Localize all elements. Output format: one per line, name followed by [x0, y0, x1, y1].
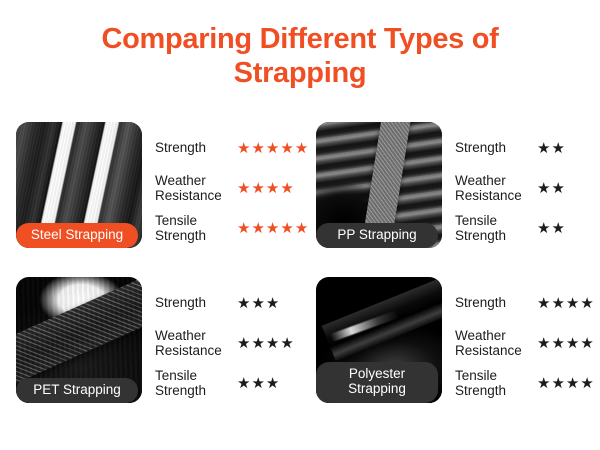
star-icon: ★ — [237, 141, 250, 156]
star-icon: ★ — [237, 221, 250, 236]
star-icon: ★ — [251, 141, 264, 156]
star-icon: ★ — [537, 141, 550, 156]
product-badge-polyester: Polyester Strapping — [316, 362, 438, 403]
star-icon: ★ — [580, 296, 593, 311]
attribute-row-strength: Strength★★★★★ — [155, 128, 308, 168]
star-icon: ★ — [266, 376, 279, 391]
star-icon: ★ — [280, 221, 293, 236]
rating-stars-weather-resistance: ★★ — [533, 181, 565, 196]
title-block: Comparing Different Types of Strapping — [0, 0, 600, 90]
attribute-row-strength: Strength★★★★ — [455, 283, 600, 323]
star-icon: ★ — [551, 376, 564, 391]
attribute-row-tensile-strength: Tensile Strength★★★★★ — [155, 208, 308, 248]
rating-stars-weather-resistance: ★★★★ — [533, 336, 594, 351]
attribute-list-polyester: Strength★★★★Weather Resistance★★★★Tensil… — [442, 277, 600, 403]
star-icon: ★ — [551, 296, 564, 311]
attribute-list-pp: Strength★★Weather Resistance★★Tensile St… — [442, 122, 600, 248]
attribute-row-strength: Strength★★ — [455, 128, 600, 168]
attribute-list-pet: Strength★★★Weather Resistance★★★★Tensile… — [142, 277, 300, 403]
attribute-label-weather-resistance: Weather Resistance — [155, 173, 233, 203]
star-icon: ★ — [566, 296, 579, 311]
attribute-label-weather-resistance: Weather Resistance — [155, 328, 233, 358]
attribute-row-tensile-strength: Tensile Strength★★★ — [155, 363, 300, 403]
page-title: Comparing Different Types of Strapping — [0, 22, 600, 90]
rating-stars-strength: ★★★★ — [533, 296, 594, 311]
star-icon: ★ — [266, 141, 279, 156]
rating-stars-strength: ★★ — [533, 141, 565, 156]
star-icon: ★ — [551, 221, 564, 236]
comparison-grid: Steel StrappingStrength★★★★★Weather Resi… — [0, 122, 600, 432]
attribute-label-strength: Strength — [455, 295, 533, 310]
attribute-row-weather-resistance: Weather Resistance★★ — [455, 168, 600, 208]
rating-stars-tensile-strength: ★★ — [533, 221, 565, 236]
star-icon: ★ — [266, 296, 279, 311]
star-icon: ★ — [266, 221, 279, 236]
star-icon: ★ — [280, 141, 293, 156]
rating-stars-strength: ★★★★★ — [233, 141, 308, 156]
star-icon: ★ — [266, 336, 279, 351]
product-thumbnail-pet: PET Strapping — [16, 277, 142, 403]
star-icon: ★ — [237, 336, 250, 351]
star-icon: ★ — [251, 181, 264, 196]
attribute-row-strength: Strength★★★ — [155, 283, 300, 323]
star-icon: ★ — [551, 141, 564, 156]
star-icon: ★ — [537, 181, 550, 196]
star-icon: ★ — [251, 221, 264, 236]
star-icon: ★ — [551, 181, 564, 196]
star-icon: ★ — [551, 336, 564, 351]
attribute-row-weather-resistance: Weather Resistance★★★★ — [455, 323, 600, 363]
star-icon: ★ — [566, 336, 579, 351]
star-icon: ★ — [537, 336, 550, 351]
attribute-label-tensile-strength: Tensile Strength — [155, 368, 233, 398]
star-icon: ★ — [237, 376, 250, 391]
attribute-label-tensile-strength: Tensile Strength — [155, 213, 233, 243]
star-icon: ★ — [251, 296, 264, 311]
rating-stars-weather-resistance: ★★★★ — [233, 181, 294, 196]
rating-stars-strength: ★★★ — [233, 296, 279, 311]
comparison-card-pp: PP StrappingStrength★★Weather Resistance… — [300, 122, 600, 277]
product-badge-pp: PP Strapping — [316, 223, 438, 248]
star-icon: ★ — [537, 296, 550, 311]
attribute-label-strength: Strength — [155, 295, 233, 310]
attribute-row-weather-resistance: Weather Resistance★★★★ — [155, 323, 300, 363]
comparison-card-polyester: Polyester StrappingStrength★★★★Weather R… — [300, 277, 600, 432]
star-icon: ★ — [280, 336, 293, 351]
rating-stars-tensile-strength: ★★★★ — [533, 376, 594, 391]
attribute-label-tensile-strength: Tensile Strength — [455, 368, 533, 398]
attribute-label-weather-resistance: Weather Resistance — [455, 328, 533, 358]
star-icon: ★ — [237, 181, 250, 196]
star-icon: ★ — [580, 336, 593, 351]
product-badge-steel: Steel Strapping — [16, 223, 138, 248]
attribute-list-steel: Strength★★★★★Weather Resistance★★★★Tensi… — [142, 122, 308, 248]
attribute-label-strength: Strength — [455, 140, 533, 155]
attribute-label-tensile-strength: Tensile Strength — [455, 213, 533, 243]
product-thumbnail-pp: PP Strapping — [316, 122, 442, 248]
product-thumbnail-steel: Steel Strapping — [16, 122, 142, 248]
comparison-card-pet: PET StrappingStrength★★★Weather Resistan… — [0, 277, 300, 432]
attribute-label-strength: Strength — [155, 140, 233, 155]
rating-stars-tensile-strength: ★★★★★ — [233, 221, 308, 236]
star-icon: ★ — [280, 181, 293, 196]
attribute-row-tensile-strength: Tensile Strength★★★★ — [455, 363, 600, 403]
comparison-card-steel: Steel StrappingStrength★★★★★Weather Resi… — [0, 122, 300, 277]
attribute-row-tensile-strength: Tensile Strength★★ — [455, 208, 600, 248]
product-thumbnail-polyester: Polyester Strapping — [316, 277, 442, 403]
star-icon: ★ — [251, 376, 264, 391]
star-icon: ★ — [251, 336, 264, 351]
rating-stars-weather-resistance: ★★★★ — [233, 336, 294, 351]
star-icon: ★ — [237, 296, 250, 311]
attribute-row-weather-resistance: Weather Resistance★★★★ — [155, 168, 308, 208]
star-icon: ★ — [537, 221, 550, 236]
product-badge-pet: PET Strapping — [16, 378, 138, 403]
star-icon: ★ — [580, 376, 593, 391]
rating-stars-tensile-strength: ★★★ — [233, 376, 279, 391]
star-icon: ★ — [537, 376, 550, 391]
star-icon: ★ — [266, 181, 279, 196]
star-icon: ★ — [566, 376, 579, 391]
attribute-label-weather-resistance: Weather Resistance — [455, 173, 533, 203]
